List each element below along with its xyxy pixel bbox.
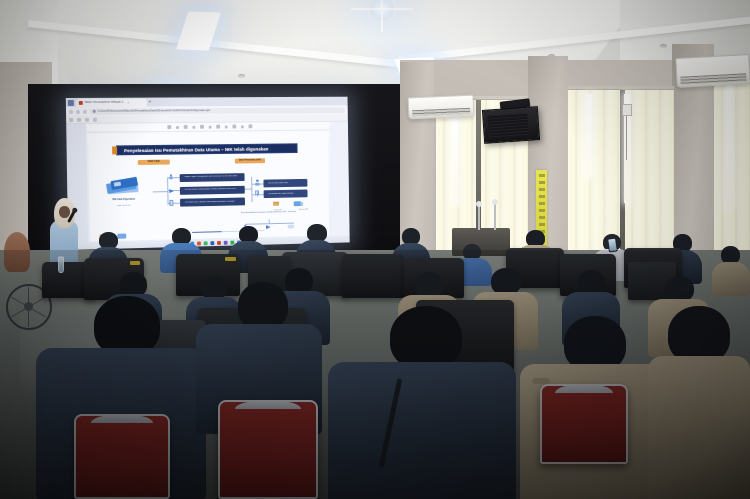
flow-box-label: Verifikasi dan validasi data kependuduka… [185, 201, 235, 205]
flow-box: Permohonan disampaikan melalui saluran r… [180, 185, 245, 194]
browser-tab-title: Materi Pemutakhiran Wilayah 2... [85, 101, 126, 104]
microphone-stand [478, 206, 480, 230]
ceiling-sensor-icon [238, 74, 245, 78]
torso [712, 262, 750, 296]
flow-box: Verifikasi dan validasi data kependuduka… [180, 198, 245, 207]
chrome-icon[interactable] [203, 241, 207, 245]
phone[interactable] [607, 237, 618, 252]
toolbar-icon[interactable] [93, 117, 97, 121]
wall-speaker [482, 106, 540, 144]
document-icon [169, 200, 173, 205]
chair-back [342, 254, 404, 298]
presenter-face [59, 206, 70, 218]
water-bottle [58, 256, 64, 273]
flow-connector [153, 191, 168, 192]
ribbon-icon[interactable] [225, 125, 228, 128]
slide-left-caption: NIK telah Digunakan [97, 198, 151, 202]
delivery-icon [294, 201, 302, 206]
attendee-hijab [4, 232, 32, 278]
flow-box-label: Wajib Pajak mengajukan permohonan konfir… [184, 176, 236, 179]
ribbon-icon[interactable] [176, 126, 179, 129]
red-chair-back [540, 384, 628, 464]
document-icon [255, 190, 259, 195]
microphone-stand [494, 204, 496, 230]
word-icon[interactable] [210, 241, 214, 245]
ribbon-icon[interactable] [200, 125, 204, 129]
hijab [4, 232, 30, 272]
address-bar-url: C:/Users/PC/Documents/Rakor/ISU/Pemutakh… [98, 109, 211, 113]
torso [328, 362, 516, 499]
head [238, 282, 288, 330]
result-box-label: Pemutakhiran data selesai [268, 192, 293, 195]
toolbar-icon[interactable] [77, 117, 81, 121]
slide-title: Penyelesaian Isu Pemutakhiran Data Utama… [116, 143, 298, 156]
teams-icon[interactable] [223, 240, 227, 244]
presentation-ribbon [86, 122, 330, 133]
slide-badge-label: Data Penunjang (sek) [239, 160, 261, 162]
flow-box: Wajib Pajak mengajukan permohonan konfir… [180, 173, 245, 182]
torso [648, 356, 750, 499]
wall-switch[interactable] [622, 104, 632, 116]
ceiling-sensor-icon [660, 44, 667, 48]
flow-connector [251, 177, 252, 202]
head [491, 268, 521, 295]
ribbon-icon[interactable] [167, 125, 171, 129]
slide-left-subcaption: pada sistem lain [97, 204, 151, 207]
attendee-back [712, 246, 750, 294]
red-chair-back [74, 414, 170, 499]
slide-badge-label: Wajib Pajak [148, 161, 160, 163]
envelope-icon [273, 201, 279, 205]
toolbar-icon[interactable] [69, 117, 73, 121]
result-box: Konfirmasi data valid [263, 179, 308, 188]
reload-icon[interactable] [83, 109, 87, 113]
new-tab-button[interactable]: + [148, 99, 151, 105]
person-icon [169, 174, 174, 180]
head [94, 296, 160, 356]
paper-plane-icon [169, 189, 174, 193]
slide-badge: Wajib Pajak [138, 159, 170, 165]
attendee-foreground [328, 306, 516, 499]
slide-title-text: Penyelesaian Isu Pemutakhiran Data Utama… [124, 146, 268, 153]
person-icon [255, 180, 260, 186]
ribbon-icon[interactable] [216, 125, 220, 129]
result-box: Pemutakhiran data selesai [263, 189, 308, 198]
browser-logo-icon [68, 99, 74, 105]
powerpoint-icon[interactable] [217, 241, 221, 245]
meeting-room-scene: Materi Pemutakhiran Wilayah 2... × + C:/… [0, 0, 750, 499]
tab-favicon-icon [79, 100, 83, 104]
blind-light-gap [726, 82, 732, 208]
file-icon [93, 110, 96, 113]
forward-arrow-icon[interactable] [76, 109, 80, 113]
ribbon-icon[interactable] [209, 125, 212, 128]
result-box-label: Konfirmasi data valid [268, 182, 288, 185]
air-conditioner-icon [408, 95, 475, 120]
head [390, 306, 462, 370]
slide-note: Data dimutakhirkan otomatis setelah konf… [235, 211, 301, 215]
id-card-icon [105, 176, 142, 199]
ribbon-icon[interactable] [241, 125, 244, 128]
flow-connector [245, 222, 294, 224]
flow-box-label: Permohonan disampaikan melalui saluran r… [185, 188, 237, 192]
ribbon-icon[interactable] [192, 125, 195, 128]
blind-light-gap [586, 94, 592, 177]
blind-light-gap [452, 104, 458, 205]
back-arrow-icon[interactable] [69, 109, 73, 113]
attendee-foreground-officer [648, 306, 750, 499]
tab-close-icon[interactable]: × [127, 100, 129, 104]
ribbon-icon[interactable] [232, 125, 236, 129]
red-chair-back [218, 400, 318, 499]
slide-content: Penyelesaian Isu Pemutakhiran Data Utama… [88, 132, 329, 241]
address-bar[interactable]: C:/Users/PC/Documents/Rakor/ISU/Pemutakh… [90, 107, 345, 115]
ribbon-icon[interactable] [248, 124, 252, 128]
ribbon-icon[interactable] [184, 125, 188, 129]
slide-badge: Data Penunjang (sek) [234, 158, 265, 164]
toolbar-icon[interactable] [85, 117, 89, 121]
cloud-icon [287, 225, 294, 229]
browser-tab[interactable]: Materi Pemutakhiran Wilayah 2... × [76, 98, 147, 106]
wall-cable [626, 116, 627, 160]
flow-connector [244, 189, 251, 190]
air-conditioner-icon [675, 54, 750, 88]
